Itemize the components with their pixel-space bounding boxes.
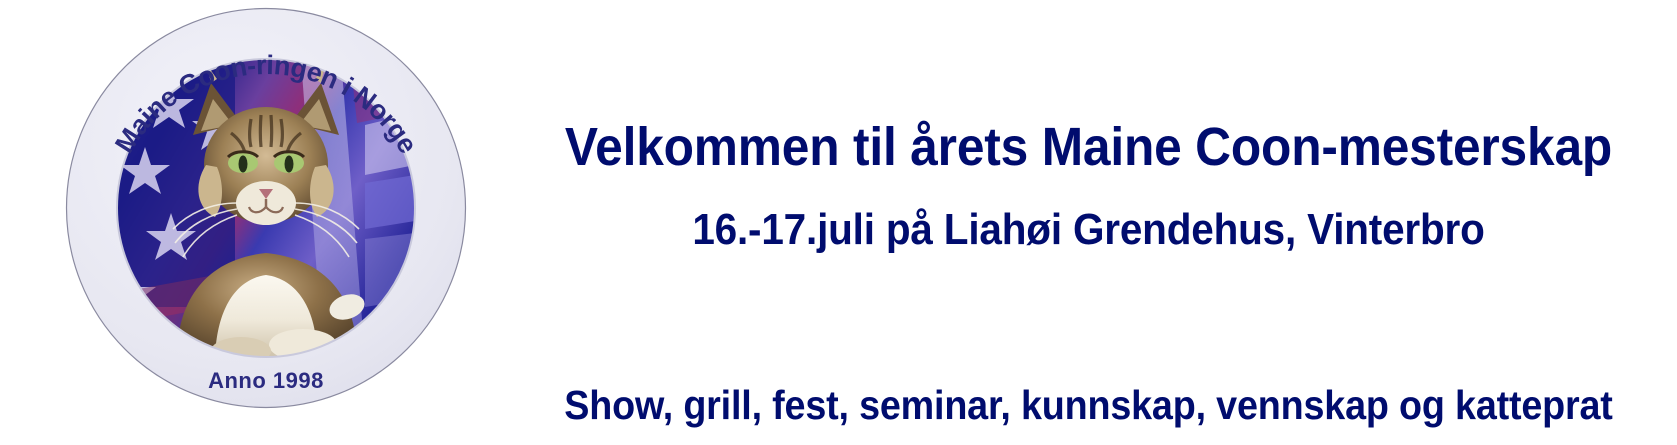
event-banner: Maine Coon-ringen i Norge Anno 1998 Velk… [0, 0, 1677, 445]
headline-secondary: 16.-17.juli på Liahøi Grendehus, Vinterb… [547, 205, 1630, 255]
logo-anno-text: Anno 1998 [208, 368, 324, 393]
headline-primary: Velkommen til årets Maine Coon-mesterska… [547, 117, 1630, 177]
club-logo-badge[interactable]: Maine Coon-ringen i Norge Anno 1998 [65, 7, 467, 409]
logo-svg: Maine Coon-ringen i Norge Anno 1998 [65, 7, 467, 409]
headline-tagline: Show, grill, fest, seminar, kunnskap, ve… [547, 382, 1630, 428]
headline-block: Velkommen til årets Maine Coon-mesterska… [500, 0, 1677, 445]
